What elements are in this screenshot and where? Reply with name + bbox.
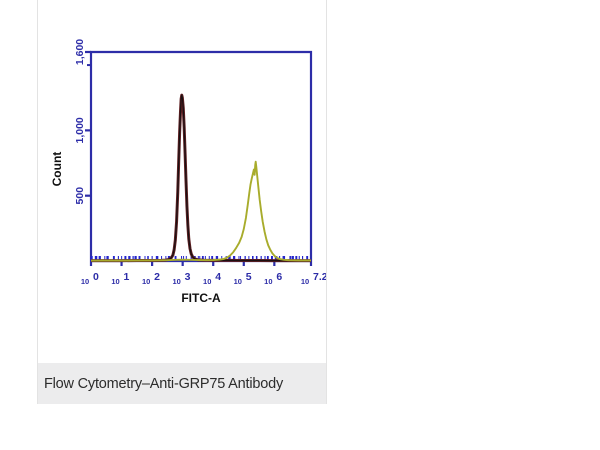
x-tick-label: 107.2 bbox=[301, 271, 326, 286]
flow-cytometry-plot: 1,6001,000500Count1001011021031041051061… bbox=[38, 0, 326, 363]
y-axis-title: Count bbox=[50, 152, 64, 187]
x-tick-label: 102 bbox=[142, 271, 160, 286]
svg-text:3: 3 bbox=[185, 271, 191, 283]
x-tick-label: 104 bbox=[203, 271, 221, 286]
page-root: 1,6001,000500Count1001011021031041051061… bbox=[0, 0, 600, 450]
series-curve-stained bbox=[91, 162, 311, 261]
svg-text:0: 0 bbox=[93, 271, 99, 283]
svg-text:10: 10 bbox=[234, 277, 242, 286]
y-tick-label: 1,600 bbox=[74, 39, 86, 65]
svg-text:4: 4 bbox=[215, 271, 221, 283]
svg-text:10: 10 bbox=[81, 277, 89, 286]
svg-text:7.2: 7.2 bbox=[313, 271, 326, 283]
plot-frame bbox=[91, 52, 311, 261]
svg-text:1: 1 bbox=[124, 271, 130, 283]
svg-text:10: 10 bbox=[111, 277, 119, 286]
x-tick-label: 100 bbox=[81, 271, 99, 286]
x-tick-label: 103 bbox=[172, 271, 190, 286]
y-tick-label: 1,000 bbox=[74, 117, 86, 143]
svg-text:10: 10 bbox=[203, 277, 211, 286]
svg-text:10: 10 bbox=[142, 277, 150, 286]
x-tick-label: 105 bbox=[234, 271, 252, 286]
figure-caption: Flow Cytometry–Anti-GRP75 Antibody bbox=[38, 376, 283, 392]
series-curve-control-fillline bbox=[91, 95, 311, 260]
y-tick-label: 500 bbox=[74, 187, 86, 205]
x-tick-label: 101 bbox=[111, 271, 129, 286]
plot-canvas: 1,6001,000500Count1001011021031041051061… bbox=[38, 0, 326, 363]
x-tick-label: 106 bbox=[264, 271, 282, 286]
svg-text:10: 10 bbox=[301, 277, 309, 286]
svg-text:6: 6 bbox=[276, 271, 282, 283]
svg-text:5: 5 bbox=[246, 271, 252, 283]
figure-card: 1,6001,000500Count1001011021031041051061… bbox=[37, 0, 327, 404]
svg-text:10: 10 bbox=[264, 277, 272, 286]
svg-text:2: 2 bbox=[154, 271, 160, 283]
x-axis-title: FITC-A bbox=[181, 291, 221, 305]
series-curve-control-outline bbox=[91, 95, 311, 260]
svg-text:10: 10 bbox=[172, 277, 180, 286]
caption-band: Flow Cytometry–Anti-GRP75 Antibody bbox=[38, 363, 326, 404]
